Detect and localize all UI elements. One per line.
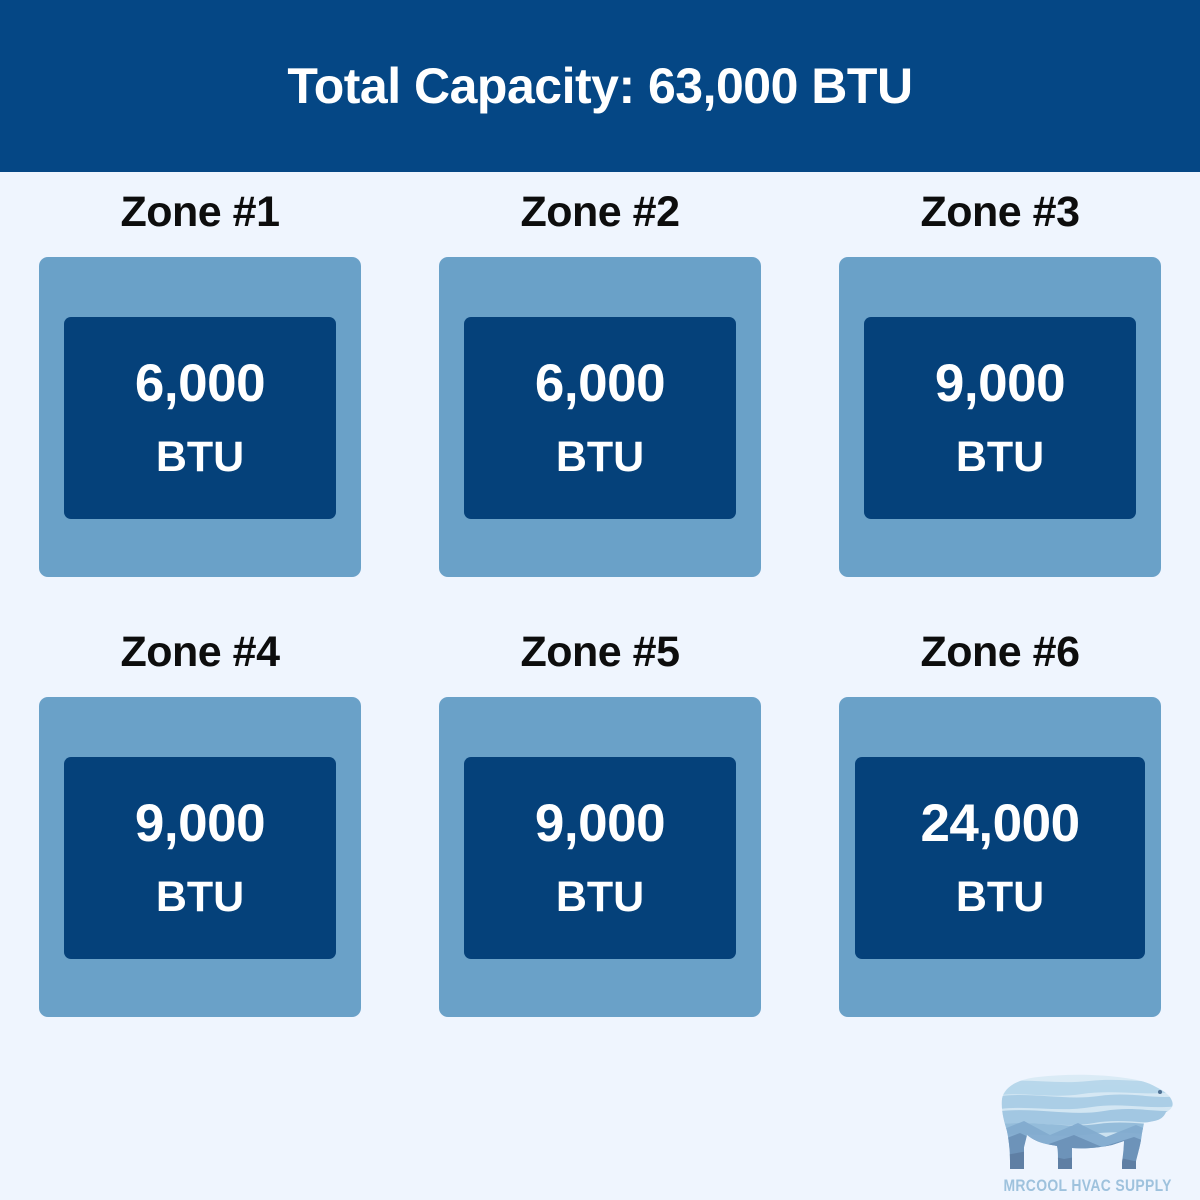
zone-value-1: 6,000 [135, 357, 265, 410]
zone-card-4: Zone #4 9,000 BTU [0, 612, 400, 1052]
zone-capacity-card-2: 6,000 BTU [439, 257, 761, 577]
header-bar: Total Capacity: 63,000 BTU [0, 0, 1200, 172]
zone-card-6: Zone #6 24,000 BTU [800, 612, 1200, 1052]
zone-value-4: 9,000 [135, 797, 265, 850]
zone-card-3: Zone #3 9,000 BTU [800, 172, 1200, 612]
zone-grid: Zone #1 6,000 BTU Zone #2 6,000 BTU Zone… [0, 172, 1200, 1052]
zone-label-4: Zone #4 [121, 630, 280, 675]
zone-unit-5: BTU [556, 876, 644, 919]
brand-logo-text: MRCOOL HVAC SUPPLY [1004, 1177, 1172, 1194]
zone-unit-6: BTU [956, 876, 1044, 919]
zone-value-5: 9,000 [535, 797, 665, 850]
zone-capacity-card-6: 24,000 BTU [839, 697, 1161, 1017]
zone-unit-2: BTU [556, 436, 644, 479]
zone-value-6: 24,000 [920, 797, 1079, 850]
zone-capacity-inner-6: 24,000 BTU [855, 757, 1145, 959]
zone-card-2: Zone #2 6,000 BTU [400, 172, 800, 612]
page-title: Total Capacity: 63,000 BTU [287, 61, 912, 111]
zone-unit-4: BTU [156, 876, 244, 919]
zone-capacity-card-3: 9,000 BTU [839, 257, 1161, 577]
zone-label-6: Zone #6 [921, 630, 1080, 675]
zone-label-3: Zone #3 [921, 190, 1080, 235]
zone-unit-1: BTU [156, 436, 244, 479]
polar-bear-icon [994, 1071, 1182, 1175]
brand-logo: MRCOOL HVAC SUPPLY [990, 1059, 1186, 1194]
zone-capacity-inner-5: 9,000 BTU [464, 757, 736, 959]
zone-label-2: Zone #2 [521, 190, 680, 235]
zone-label-1: Zone #1 [121, 190, 280, 235]
zone-capacity-inner-2: 6,000 BTU [464, 317, 736, 519]
zone-capacity-card-4: 9,000 BTU [39, 697, 361, 1017]
zone-capacity-card-1: 6,000 BTU [39, 257, 361, 577]
zone-value-3: 9,000 [935, 357, 1065, 410]
zone-capacity-inner-3: 9,000 BTU [864, 317, 1136, 519]
zone-capacity-card-5: 9,000 BTU [439, 697, 761, 1017]
zone-capacity-inner-4: 9,000 BTU [64, 757, 336, 959]
zone-unit-3: BTU [956, 436, 1044, 479]
zone-card-5: Zone #5 9,000 BTU [400, 612, 800, 1052]
zone-capacity-inner-1: 6,000 BTU [64, 317, 336, 519]
zone-label-5: Zone #5 [521, 630, 680, 675]
infographic-page: Total Capacity: 63,000 BTU Zone #1 6,000… [0, 0, 1200, 1200]
zone-card-1: Zone #1 6,000 BTU [0, 172, 400, 612]
zone-value-2: 6,000 [535, 357, 665, 410]
